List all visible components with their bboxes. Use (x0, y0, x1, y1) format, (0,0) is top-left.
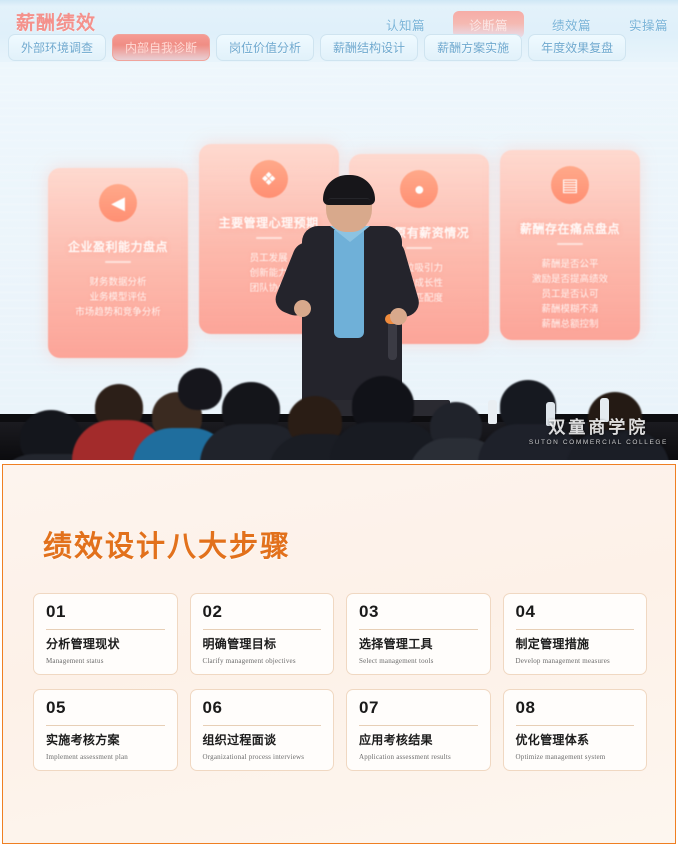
step-title-cn: 制定管理措施 (516, 636, 635, 652)
step-title-cn: 明确管理目标 (203, 636, 322, 652)
step-number: 05 (46, 698, 165, 718)
slide-card-item: 薪酬总额控制 (500, 317, 640, 332)
microphone-icon (388, 320, 397, 360)
subtab-annual-effect-review[interactable]: 年度效果复盘 (528, 34, 626, 61)
step-title-en: Select management tools (359, 657, 478, 665)
step-card[interactable]: 06 组织过程面谈 Organizational process intervi… (190, 689, 335, 771)
divider (203, 725, 322, 726)
watermark-en: SUTON COMMERCIAL COLLEGE (529, 439, 668, 446)
page-title: 薪酬绩效 (16, 8, 96, 35)
calendar-icon: ▤ (551, 166, 589, 204)
step-title-en: Organizational process interviews (203, 753, 322, 761)
slide-card: ◀ 企业盈利能力盘点 财务数据分析 业务模型评估 市场趋势和竞争分析 (48, 168, 188, 358)
slide-card-item: 财务数据分析 (48, 275, 188, 290)
step-title-cn: 选择管理工具 (359, 636, 478, 652)
steps-panel: 绩效设计八大步骤 01 分析管理现状 Management status 02 … (2, 464, 676, 844)
divider (516, 725, 635, 726)
megaphone-icon: ◀ (99, 184, 137, 222)
step-title-en: Develop management measures (516, 657, 635, 665)
step-card[interactable]: 04 制定管理措施 Develop management measures (503, 593, 648, 675)
slide-card-item: 市场趋势和竞争分析 (48, 305, 188, 320)
step-number: 08 (516, 698, 635, 718)
divider (516, 629, 635, 630)
speaker-shirt (334, 230, 364, 338)
secondary-tab-bar: 外部环境调查 内部自我诊断 岗位价值分析 薪酬结构设计 薪酬方案实施 年度效果复… (0, 34, 678, 61)
clover-icon: ❖ (250, 160, 288, 198)
step-title-en: Management status (46, 657, 165, 665)
slide-card-title: 薪酬存在痛点盘点 (500, 220, 640, 237)
watermark-cn: 双童商学院 (529, 413, 668, 438)
step-number: 01 (46, 602, 165, 622)
glasses-icon (328, 198, 370, 206)
step-title-en: Clarify management objectives (203, 657, 322, 665)
step-title-cn: 组织过程面谈 (203, 732, 322, 748)
step-card[interactable]: 02 明确管理目标 Clarify management objectives (190, 593, 335, 675)
step-number: 02 (203, 602, 322, 622)
divider (46, 725, 165, 726)
divider (359, 725, 478, 726)
divider (203, 629, 322, 630)
step-number: 04 (516, 602, 635, 622)
page-root: 薪酬绩效 认知篇 诊断篇 绩效篇 实操篇 外部环境调查 内部自我诊断 岗位价值分… (0, 0, 678, 846)
step-title-cn: 应用考核结果 (359, 732, 478, 748)
divider (256, 237, 282, 239)
step-card[interactable]: 05 实施考核方案 Implement assessment plan (33, 689, 178, 771)
speaker-hand-right (390, 308, 407, 325)
divider (105, 261, 131, 263)
steps-grid: 01 分析管理现状 Management status 02 明确管理目标 Cl… (33, 593, 647, 771)
step-number: 03 (359, 602, 478, 622)
subtab-internal-self-diagnosis[interactable]: 内部自我诊断 (112, 34, 210, 61)
divider (406, 247, 432, 249)
lecture-photo: ◀ 企业盈利能力盘点 财务数据分析 业务模型评估 市场趋势和竞争分析 ❖ 主要管… (0, 62, 678, 460)
audience-head (178, 368, 222, 410)
speaker-hand-left (294, 300, 311, 317)
subtab-job-value-analysis[interactable]: 岗位价值分析 (216, 34, 314, 61)
step-title-cn: 分析管理现状 (46, 636, 165, 652)
step-card[interactable]: 08 优化管理体系 Optimize management system (503, 689, 648, 771)
step-number: 07 (359, 698, 478, 718)
step-card[interactable]: 01 分析管理现状 Management status (33, 593, 178, 675)
step-number: 06 (203, 698, 322, 718)
step-card[interactable]: 03 选择管理工具 Select management tools (346, 593, 491, 675)
slide-card-item: 业务模型评估 (48, 290, 188, 305)
step-card[interactable]: 07 应用考核结果 Application assessment results (346, 689, 491, 771)
slide-card-item: 薪酬模糊不清 (500, 302, 640, 317)
water-bottle (488, 400, 497, 424)
slide-card-item: 激励是否提高绩效 (500, 272, 640, 287)
step-title-cn: 优化管理体系 (516, 732, 635, 748)
slide-card-item: 薪酬是否公平 (500, 257, 640, 272)
divider (359, 629, 478, 630)
subtab-external-environment-survey[interactable]: 外部环境调查 (8, 34, 106, 61)
divider (46, 629, 165, 630)
slide-card: ▤ 薪酬存在痛点盘点 薪酬是否公平 激励是否提高绩效 员工是否认可 薪酬模糊不清… (500, 150, 640, 340)
slide-card-title: 企业盈利能力盘点 (48, 238, 188, 255)
watermark-logo: 双童商学院 SUTON COMMERCIAL COLLEGE (529, 413, 668, 446)
panel-title: 绩效设计八大步骤 (43, 523, 291, 565)
subtab-salary-structure-design[interactable]: 薪酬结构设计 (320, 34, 418, 61)
step-title-en: Implement assessment plan (46, 753, 165, 761)
step-title-cn: 实施考核方案 (46, 732, 165, 748)
step-title-en: Application assessment results (359, 753, 478, 761)
divider (557, 243, 583, 245)
slide-card-item: 员工是否认可 (500, 287, 640, 302)
subtab-salary-plan-implementation[interactable]: 薪酬方案实施 (424, 34, 522, 61)
step-title-en: Optimize management system (516, 753, 635, 761)
app-header: 薪酬绩效 认知篇 诊断篇 绩效篇 实操篇 外部环境调查 内部自我诊断 岗位价值分… (0, 0, 678, 62)
